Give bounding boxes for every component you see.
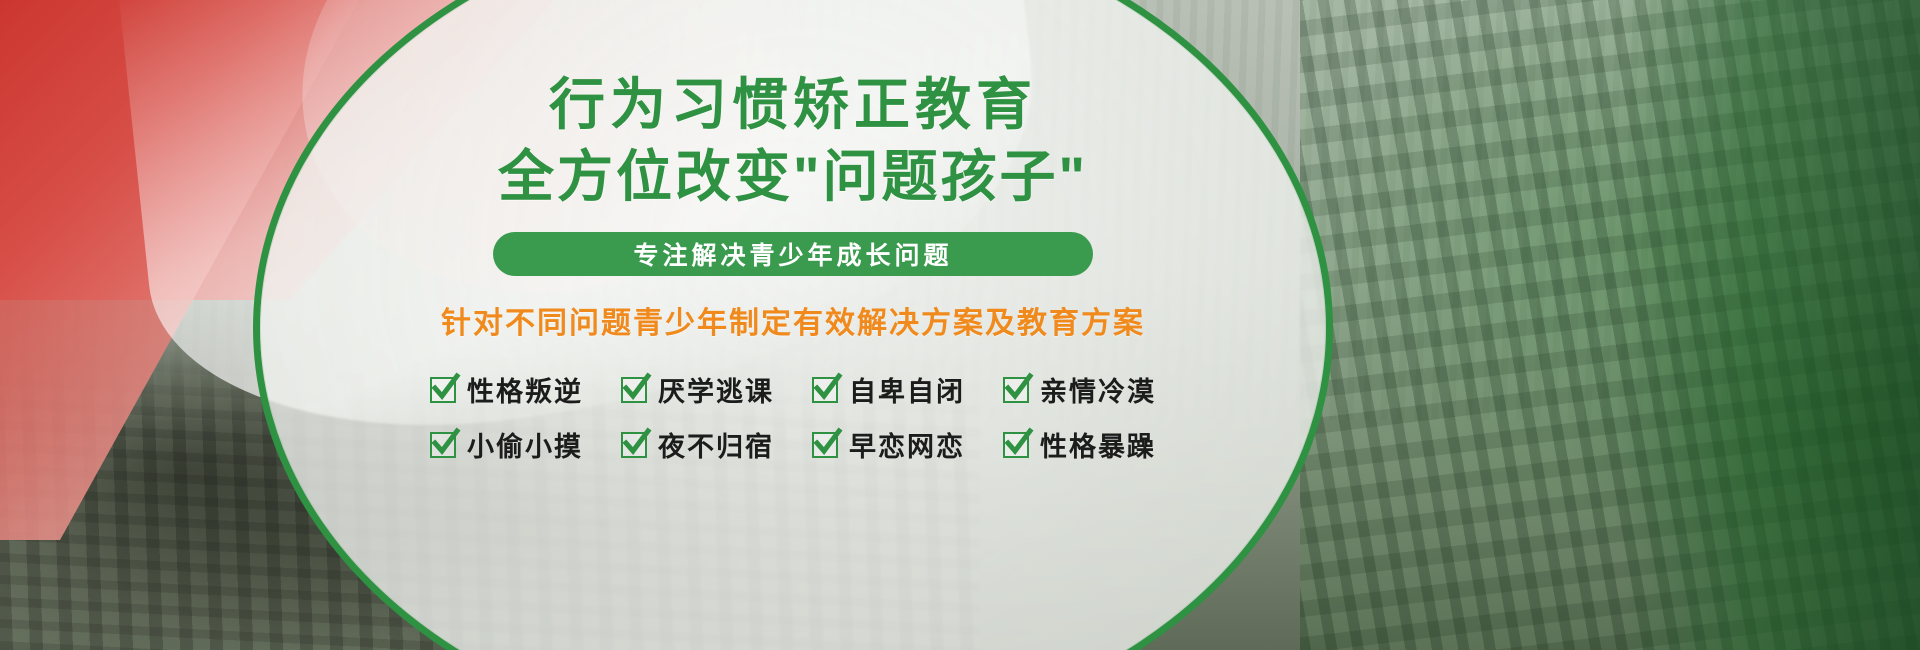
check-mark-icon	[812, 432, 838, 458]
problem-tag-list: 性格叛逆 厌学逃课 自卑自闭	[253, 370, 1333, 480]
focus-badge-label: 专注解决青少年成长问题	[633, 236, 952, 272]
check-mark-icon	[812, 377, 838, 403]
check-mark-icon	[430, 432, 456, 458]
tag-row: 小偷小摸 夜不归宿 早恋网恋	[253, 425, 1333, 464]
list-item[interactable]: 性格叛逆	[430, 370, 583, 409]
headline-line-1: 行为习惯矫正教育	[549, 72, 1037, 138]
list-item-label: 性格叛逆	[467, 370, 583, 409]
check-mark-icon	[430, 377, 456, 403]
banner-content: 行为习惯矫正教育 全方位改变"问题孩子" 专注解决青少年成长问题 针对不同问题青…	[253, 0, 1333, 650]
promo-banner: 行为习惯矫正教育 全方位改变"问题孩子" 专注解决青少年成长问题 针对不同问题青…	[0, 0, 1920, 650]
check-mark-icon	[621, 432, 647, 458]
background-green-wall	[1620, 0, 1920, 650]
list-item-label: 小偷小摸	[467, 425, 583, 464]
list-item[interactable]: 亲情冷漠	[1003, 370, 1156, 409]
focus-badge: 专注解决青少年成长问题	[493, 232, 1093, 276]
list-item-label: 厌学逃课	[658, 370, 774, 409]
list-item-label: 自卑自闭	[849, 370, 965, 409]
list-item[interactable]: 自卑自闭	[812, 370, 965, 409]
tag-row: 性格叛逆 厌学逃课 自卑自闭	[253, 370, 1333, 409]
list-item[interactable]: 夜不归宿	[621, 425, 774, 464]
list-item[interactable]: 小偷小摸	[430, 425, 583, 464]
check-mark-icon	[1003, 432, 1029, 458]
check-mark-icon	[1003, 377, 1029, 403]
subheadline: 针对不同问题青少年制定有效解决方案及教育方案	[441, 298, 1145, 342]
list-item[interactable]: 厌学逃课	[621, 370, 774, 409]
list-item-label: 性格暴躁	[1040, 425, 1156, 464]
list-item-label: 亲情冷漠	[1040, 370, 1156, 409]
list-item[interactable]: 性格暴躁	[1003, 425, 1156, 464]
headline-line-2: 全方位改变"问题孩子"	[498, 144, 1088, 210]
list-item[interactable]: 早恋网恋	[812, 425, 965, 464]
list-item-label: 夜不归宿	[658, 425, 774, 464]
check-mark-icon	[621, 377, 647, 403]
list-item-label: 早恋网恋	[849, 425, 965, 464]
